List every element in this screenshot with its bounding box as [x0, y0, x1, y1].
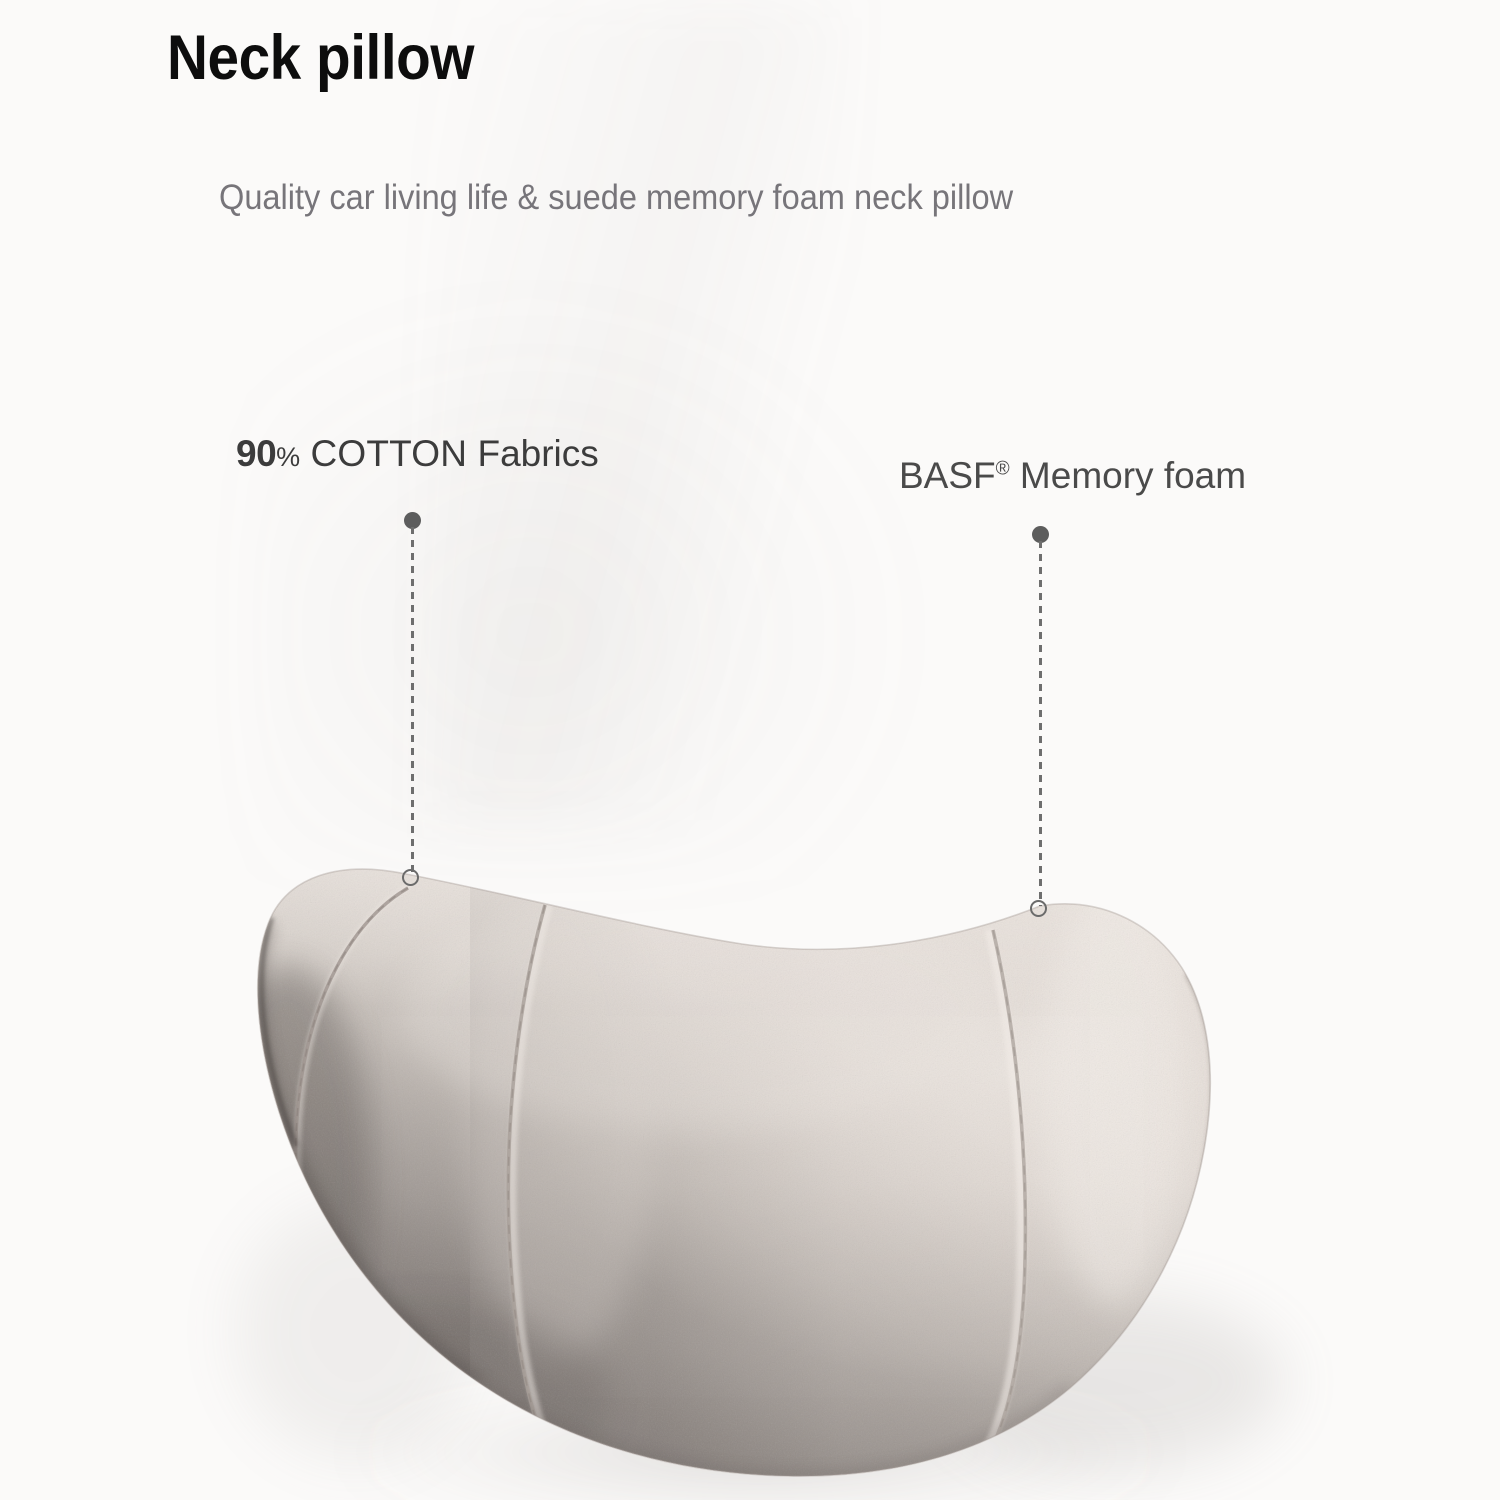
basf-brand-text: BASF [899, 455, 996, 496]
basf-leader-dash [1039, 541, 1042, 906]
cotton-fabric-callout-label: 90% COTTON Fabrics [236, 433, 599, 475]
cotton-percent-number: 90 [236, 433, 276, 474]
cotton-caps-text: COTTON [310, 433, 467, 474]
product-marketing-banner: Neck pillow Quality car living life & su… [0, 0, 1500, 1500]
basf-memory-foam-callout-label: BASF® Memory foam [899, 455, 1246, 497]
basf-leader-ring [1030, 900, 1047, 917]
cotton-leader-dash [411, 527, 414, 875]
percent-sign: % [276, 442, 300, 472]
registered-trademark-icon: ® [996, 459, 1010, 480]
cotton-leader-ring [402, 869, 419, 886]
cotton-rest-text: Fabrics [477, 433, 598, 474]
neck-pillow-photo [0, 0, 1500, 1500]
basf-rest-text: Memory foam [1020, 455, 1246, 496]
